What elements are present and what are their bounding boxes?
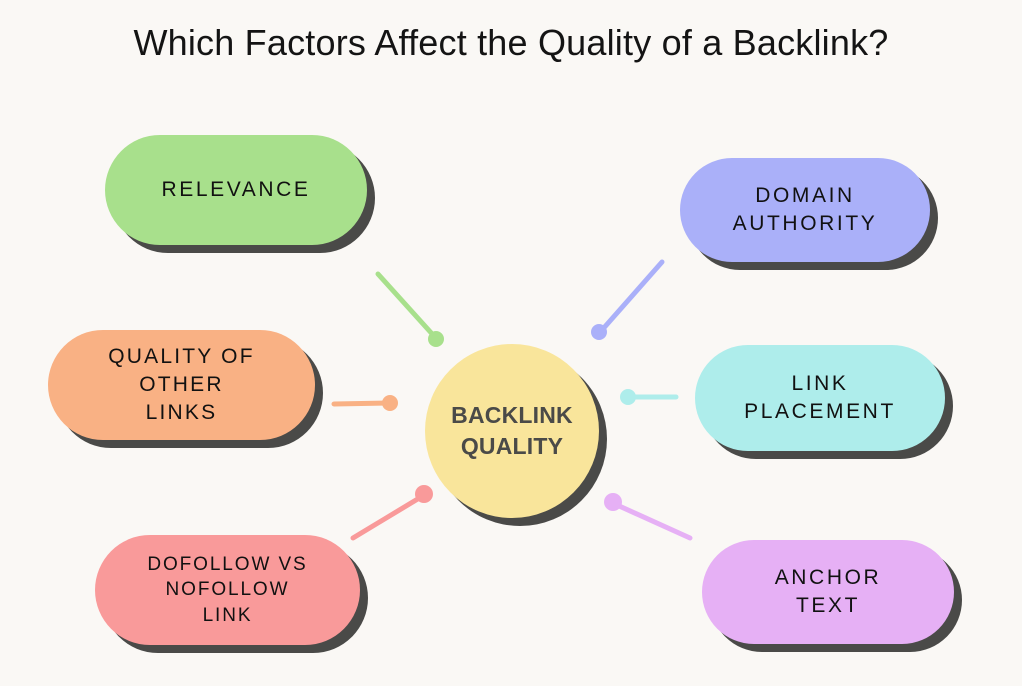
connector-domain-authority — [591, 262, 662, 340]
connector-anchor-text — [604, 493, 690, 538]
node-domain-authority-label: DOMAIN AUTHORITY — [733, 182, 878, 237]
connector-quality-of-other-links — [334, 395, 398, 411]
node-dofollow-vs-nofollow-link[interactable]: DOFOLLOW VS NOFOLLOW LINK — [95, 535, 360, 645]
node-link-placement-label: LINK PLACEMENT — [744, 370, 896, 425]
node-relevance-label: RELEVANCE — [161, 176, 310, 204]
node-dofollow-vs-nofollow-link-label: DOFOLLOW VS NOFOLLOW LINK — [147, 552, 307, 627]
center-node-label-line2: QUALITY — [461, 431, 563, 462]
connector-dofollow-vs-nofollow-link — [353, 485, 433, 538]
node-quality-of-other-links-label: QUALITY OF OTHER LINKS — [108, 343, 254, 426]
node-anchor-text[interactable]: ANCHOR TEXT — [702, 540, 954, 644]
diagram-canvas: Which Factors Affect the Quality of a Ba… — [0, 0, 1022, 686]
node-relevance[interactable]: RELEVANCE — [105, 135, 367, 245]
node-link-placement[interactable]: LINK PLACEMENT — [695, 345, 945, 451]
connector-link-placement — [620, 389, 676, 405]
center-node-backlink-quality[interactable]: BACKLINK QUALITY — [425, 344, 599, 518]
center-node-label-line1: BACKLINK — [451, 400, 573, 431]
node-quality-of-other-links[interactable]: QUALITY OF OTHER LINKS — [48, 330, 315, 440]
node-anchor-text-label: ANCHOR TEXT — [775, 564, 882, 619]
connector-relevance — [378, 274, 444, 347]
node-domain-authority[interactable]: DOMAIN AUTHORITY — [680, 158, 930, 262]
